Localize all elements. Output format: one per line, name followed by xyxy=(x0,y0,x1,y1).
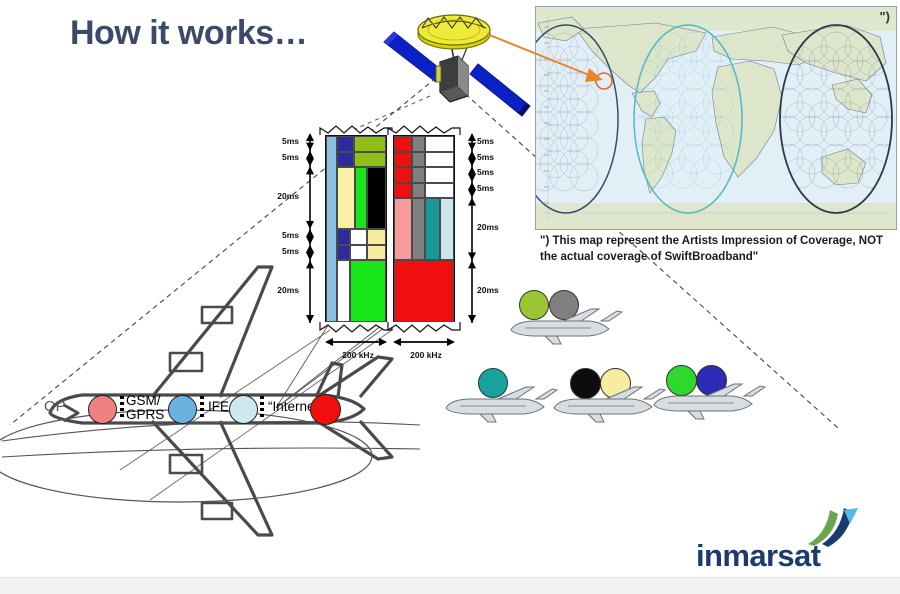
mini-aircraft-left xyxy=(440,368,560,423)
mini-aircraft-right xyxy=(648,365,768,420)
frame-cell xyxy=(425,136,454,152)
map-caption: ") This map represent the Artists Impres… xyxy=(540,234,900,265)
time-label: 5ms xyxy=(477,136,505,146)
service-divider-2 xyxy=(200,396,204,420)
mini-aircraft-upper xyxy=(505,290,625,345)
frame-cell xyxy=(337,152,354,168)
brand-wordmark: inmarsat xyxy=(696,538,820,574)
frame-cell xyxy=(425,183,454,199)
frame-cell xyxy=(350,229,368,245)
ground-footprint-ellipse xyxy=(0,400,420,510)
service-label-ife: IFE xyxy=(208,400,229,414)
frame-cell xyxy=(394,183,412,199)
service-dot-ife[interactable] xyxy=(168,395,197,424)
frame-cell xyxy=(337,229,350,245)
frame-cell xyxy=(354,136,386,152)
service-divider-3 xyxy=(260,396,264,420)
frame-cell xyxy=(425,198,439,260)
time-label: 5ms xyxy=(275,230,299,240)
time-label: 5ms xyxy=(275,136,299,146)
service-dot-terminal[interactable] xyxy=(310,394,341,425)
map-footnote-mark: ") xyxy=(880,9,891,24)
frame-cell xyxy=(412,152,425,168)
frame-cell xyxy=(394,167,412,183)
aircraft-nose-label: OP xyxy=(44,398,66,415)
frame-cell xyxy=(394,136,412,152)
frame-cell xyxy=(425,152,454,168)
frame-cell xyxy=(412,136,425,152)
time-label: 20ms xyxy=(477,222,505,232)
frame-cell xyxy=(394,152,412,168)
time-label: 20ms xyxy=(275,191,299,201)
time-label: 20ms xyxy=(477,285,505,295)
frame-cell xyxy=(367,167,386,229)
satellite-body xyxy=(436,56,468,102)
service-dot-internet[interactable] xyxy=(229,395,258,424)
service-label-gsm: GSM/ GPRS xyxy=(126,394,164,422)
footer-bar xyxy=(0,577,900,594)
frame-cell xyxy=(337,167,355,229)
frame-cell xyxy=(367,229,386,245)
brand-logo: inmarsat xyxy=(688,504,888,574)
time-label: 5ms xyxy=(477,152,505,162)
frame-cell xyxy=(412,167,425,183)
time-label: 5ms xyxy=(275,152,299,162)
satellite-dish xyxy=(418,15,490,49)
map-pointer-arrow xyxy=(485,28,615,98)
frame-cell xyxy=(440,198,454,260)
frame-cell xyxy=(355,167,367,229)
time-label: 5ms xyxy=(477,183,505,193)
frame-cell xyxy=(337,136,354,152)
frame-cell xyxy=(425,167,454,183)
service-divider-1 xyxy=(120,396,124,420)
service-dot-gsm[interactable] xyxy=(88,395,117,424)
frame-cell xyxy=(412,183,425,199)
page-title: How it works… xyxy=(70,14,307,53)
time-label: 5ms xyxy=(477,167,505,177)
frame-cell xyxy=(354,152,386,168)
